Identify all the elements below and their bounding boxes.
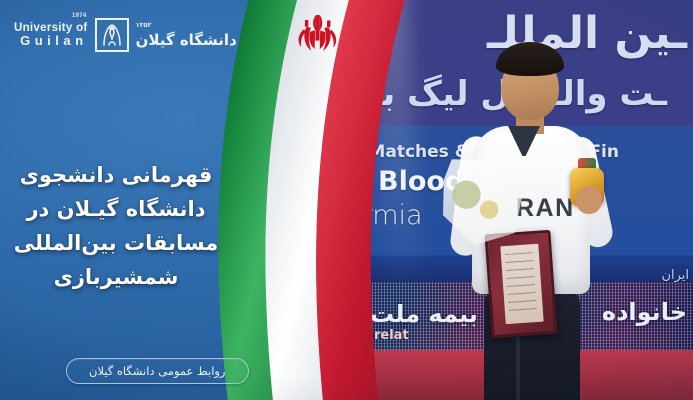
athlete-figure: RAN [454, 40, 614, 400]
logo-year-persian: ۱۳۵۲ [136, 21, 237, 29]
guilan-emblem-icon [95, 18, 129, 52]
athlete-hair [496, 42, 564, 76]
athlete-photo: ـین المللـ ـت والـیبال لیگ برتر Satellit… [258, 0, 693, 400]
public-relations-pill[interactable]: روابط عمومی دانشگاه گیلان [66, 358, 249, 384]
logo-persian-name: دانشگاه گیلان [136, 31, 237, 49]
sponsor-mellat-latin: relat [374, 328, 409, 343]
university-logo[interactable]: 1974 University of Guilan ۱۳۵۲ دانشگاه گ… [14, 18, 237, 52]
news-banner: ـین المللـ ـت والـیبال لیگ برتر Satellit… [0, 0, 693, 400]
athlete-leg-seam [516, 336, 520, 400]
logo-line-2: Guilan [14, 34, 88, 48]
sponsor-khanevadeh: خانواده [602, 298, 687, 326]
logo-persian-block: ۱۳۵۲ دانشگاه گیلان [136, 21, 237, 49]
plaque-certificate [500, 244, 543, 324]
headline-text: قهرمانی دانشجوی دانشگاه گیـلان در مسابقا… [0, 158, 232, 294]
logo-year-gregorian: 1974 [72, 13, 87, 19]
athlete-right-hand [576, 186, 602, 214]
jersey-country-text: RAN [516, 194, 575, 223]
logo-english-text: 1974 University of Guilan [14, 22, 88, 48]
certificate-plaque [484, 230, 557, 338]
plaque-text-lines [505, 252, 537, 314]
